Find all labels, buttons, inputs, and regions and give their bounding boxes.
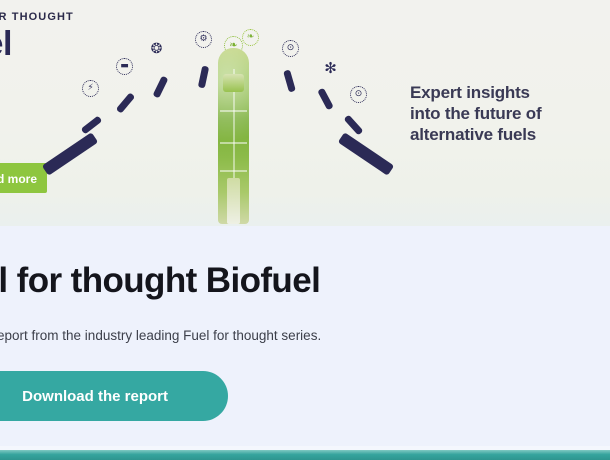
- download-report-button[interactable]: Download the report: [0, 371, 228, 421]
- biofuel-vessel: ❧: [214, 38, 254, 224]
- gauge-tick: [317, 88, 334, 111]
- plug-icon: ⚡: [82, 80, 99, 97]
- target-icon: ⊙: [350, 86, 367, 103]
- gauge-tick: [283, 69, 296, 92]
- hero-tagline: Expert insights into the future of alter…: [410, 82, 596, 145]
- droplet-icon: ⊙: [282, 40, 299, 57]
- hero-tagline-line-1: Expert insights: [410, 82, 596, 103]
- vessel-deck-line: [220, 110, 247, 112]
- sun-icon: ✻: [322, 60, 339, 77]
- page-root: FUEL FOR THOUGHT Fuel Read more ⚡ ▬ ❂ ⚙ …: [0, 0, 610, 460]
- gauge-tick: [198, 66, 209, 89]
- gauge-tick-major: [338, 132, 394, 176]
- battery-icon: ▬: [116, 58, 133, 75]
- molecule-icon: ❂: [148, 40, 165, 57]
- hero-banner: FUEL FOR THOUGHT Fuel Read more ⚡ ▬ ❂ ⚙ …: [0, 0, 610, 226]
- page-subtitle: A new report from the industry leading F…: [0, 327, 321, 345]
- gear-icon: ⚙: [195, 31, 212, 48]
- vessel-deck-line: [220, 142, 247, 144]
- page-title: Fuel for thought Biofuel: [0, 259, 320, 303]
- gauge-tick: [153, 76, 169, 99]
- hero-tagline-line-3: alternative fuels: [410, 124, 596, 145]
- vessel-stack: [227, 178, 240, 224]
- footer-accent-bar: [0, 450, 610, 460]
- content-section: Fuel for thought Biofuel A new report fr…: [0, 226, 610, 450]
- vessel-deck-line: [220, 170, 247, 172]
- gauge-tick: [116, 92, 136, 113]
- gauge-tick: [344, 114, 364, 135]
- gauge-tick: [81, 115, 103, 134]
- read-more-button[interactable]: Read more: [0, 163, 47, 193]
- hero-tagline-line-2: into the future of: [410, 103, 596, 124]
- vessel-bridge: [223, 74, 244, 92]
- gauge-tick-major: [42, 132, 98, 176]
